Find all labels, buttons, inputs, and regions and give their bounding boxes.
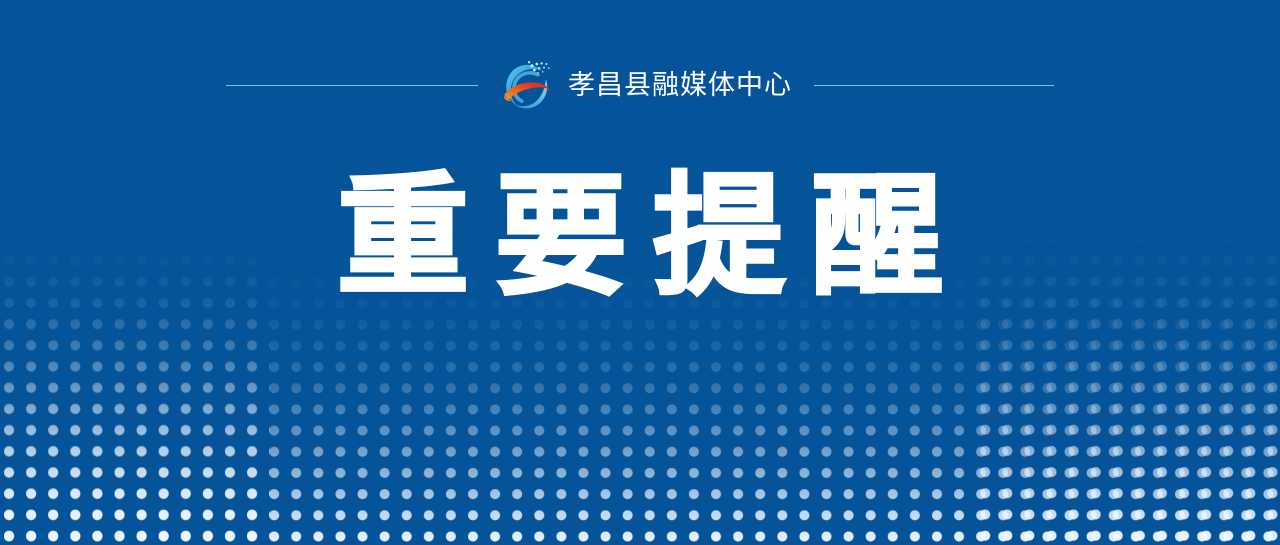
brand-header: 孝昌县融媒体中心 <box>0 56 1280 114</box>
header-rule-right <box>814 85 1054 86</box>
brand-lockup: 孝昌县融媒体中心 <box>496 55 792 115</box>
page-title: 重要提醒 <box>0 168 1280 307</box>
header-rule-left <box>226 85 478 86</box>
organization-name: 孝昌县融媒体中心 <box>568 72 792 99</box>
media-center-swoosh-logo-icon <box>496 55 556 115</box>
poster-canvas: 孝昌县融媒体中心 重要提醒 <box>0 0 1280 545</box>
